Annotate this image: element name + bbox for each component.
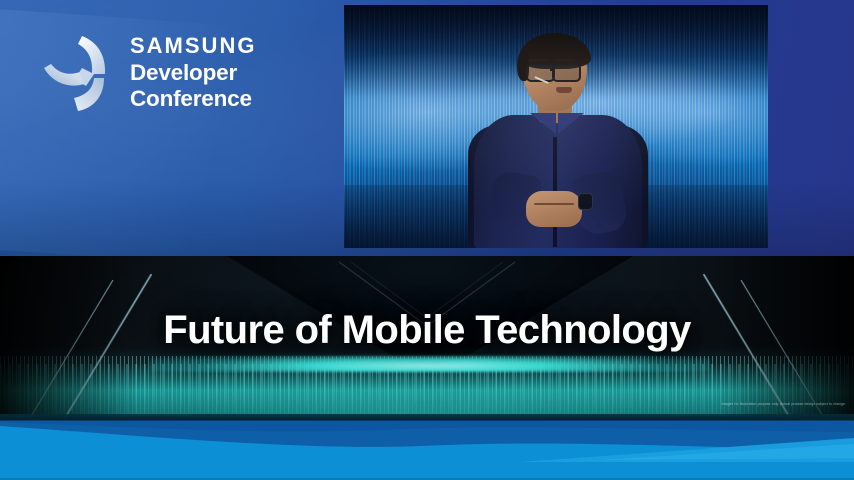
- slide-disclaimer-text: Images for illustration purpose only. Ac…: [722, 402, 846, 406]
- glow-bright-core: [150, 356, 710, 372]
- slide-title: Future of Mobile Technology: [0, 308, 854, 353]
- conference-line-1: Developer: [130, 60, 256, 85]
- sdc-logo-lockup: SAMSUNG Developer Conference: [42, 34, 256, 112]
- glow-light-streaks-wide: [0, 364, 854, 420]
- footer-light-diagonal: [0, 420, 854, 480]
- presenter-hand-crease: [534, 203, 574, 205]
- brand-footer-band: [0, 420, 854, 480]
- glasses-bridge: [550, 69, 555, 71]
- presenter-mouth: [556, 87, 572, 93]
- video-content: [344, 5, 768, 248]
- presenter-eyebrow-left: [528, 59, 548, 62]
- glasses-right-lens-icon: [552, 63, 581, 82]
- footer-top-divider: [0, 420, 854, 421]
- presenter-figure: [460, 33, 656, 248]
- wristwatch-icon: [578, 193, 593, 210]
- presentation-screenshot: SAMSUNG Developer Conference: [0, 0, 854, 480]
- presenter-eyebrow-right: [555, 59, 575, 62]
- keynote-header-section: SAMSUNG Developer Conference: [0, 0, 854, 256]
- samsung-wordmark: SAMSUNG: [130, 35, 256, 57]
- presentation-slide: Future of Mobile Technology Images for i…: [0, 256, 854, 420]
- sdc-logo-text: SAMSUNG Developer Conference: [130, 35, 256, 111]
- presenter-clasped-hands: [526, 191, 582, 227]
- conference-line-2: Conference: [130, 86, 256, 111]
- sdc-triskelion-logo-icon: [42, 34, 116, 112]
- keynote-video-frame[interactable]: [344, 5, 768, 248]
